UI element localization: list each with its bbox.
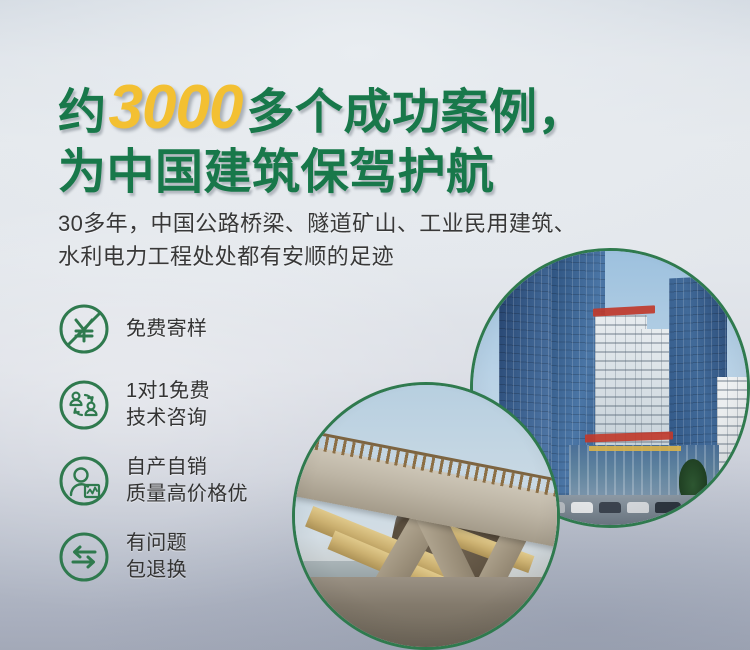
headline-line-2: 为中国建筑保驾护航 (58, 149, 748, 198)
feature-label-line-2: 技术咨询 (126, 405, 210, 432)
feature-item-free-sample: 免费寄样 (58, 298, 358, 360)
feature-label-line-1: 有问题 (126, 530, 187, 557)
parked-car (627, 502, 649, 513)
no-fee-yuan-icon (58, 303, 110, 355)
headline-suffix: 多个成功案例， (246, 86, 586, 139)
feature-label-line-2: 包退换 (126, 557, 187, 584)
entrance-sign-sub (589, 446, 681, 451)
ground-rubble (295, 577, 557, 647)
subtitle-line-1: 30多年，中国公路桥梁、隧道矿山、工业民用建筑、 (58, 207, 750, 240)
headline-number: 3000 (107, 73, 247, 142)
feature-label: 免费寄样 (126, 316, 207, 343)
headline-block: 约3000多个成功案例， 为中国建筑保驾护航 (58, 76, 748, 198)
feature-label-line-1: 1对1免费 (126, 378, 210, 405)
subtitle-line-2: 水利电力工程处处都有安顺的足迹 (58, 240, 750, 273)
feature-label-line-1: 自产自销 (126, 454, 248, 481)
promo-banner: 约3000多个成功案例， 为中国建筑保驾护航 30多年，中国公路桥梁、隧道矿山、… (0, 0, 750, 650)
feature-label: 有问题 包退换 (126, 530, 187, 584)
parked-car (571, 502, 593, 513)
subtitle-block: 30多年，中国公路桥梁、隧道矿山、工业民用建筑、 水利电力工程处处都有安顺的足迹 (58, 207, 750, 274)
feature-label-line-1: 免费寄样 (126, 318, 207, 340)
headline-prefix: 约 (58, 86, 107, 139)
return-exchange-arrows-icon (58, 531, 110, 583)
bridge-photo (292, 382, 560, 650)
parked-car (655, 502, 681, 513)
parked-car (599, 502, 621, 513)
feature-label: 1对1免费 技术咨询 (126, 378, 210, 432)
headline-line-1: 约3000多个成功案例， (58, 76, 748, 139)
feature-label: 自产自销 质量高价格优 (126, 454, 248, 508)
feature-label-line-2: 质量高价格优 (126, 481, 248, 508)
one-on-one-consult-icon (58, 379, 110, 431)
self-production-chart-icon (58, 455, 110, 507)
